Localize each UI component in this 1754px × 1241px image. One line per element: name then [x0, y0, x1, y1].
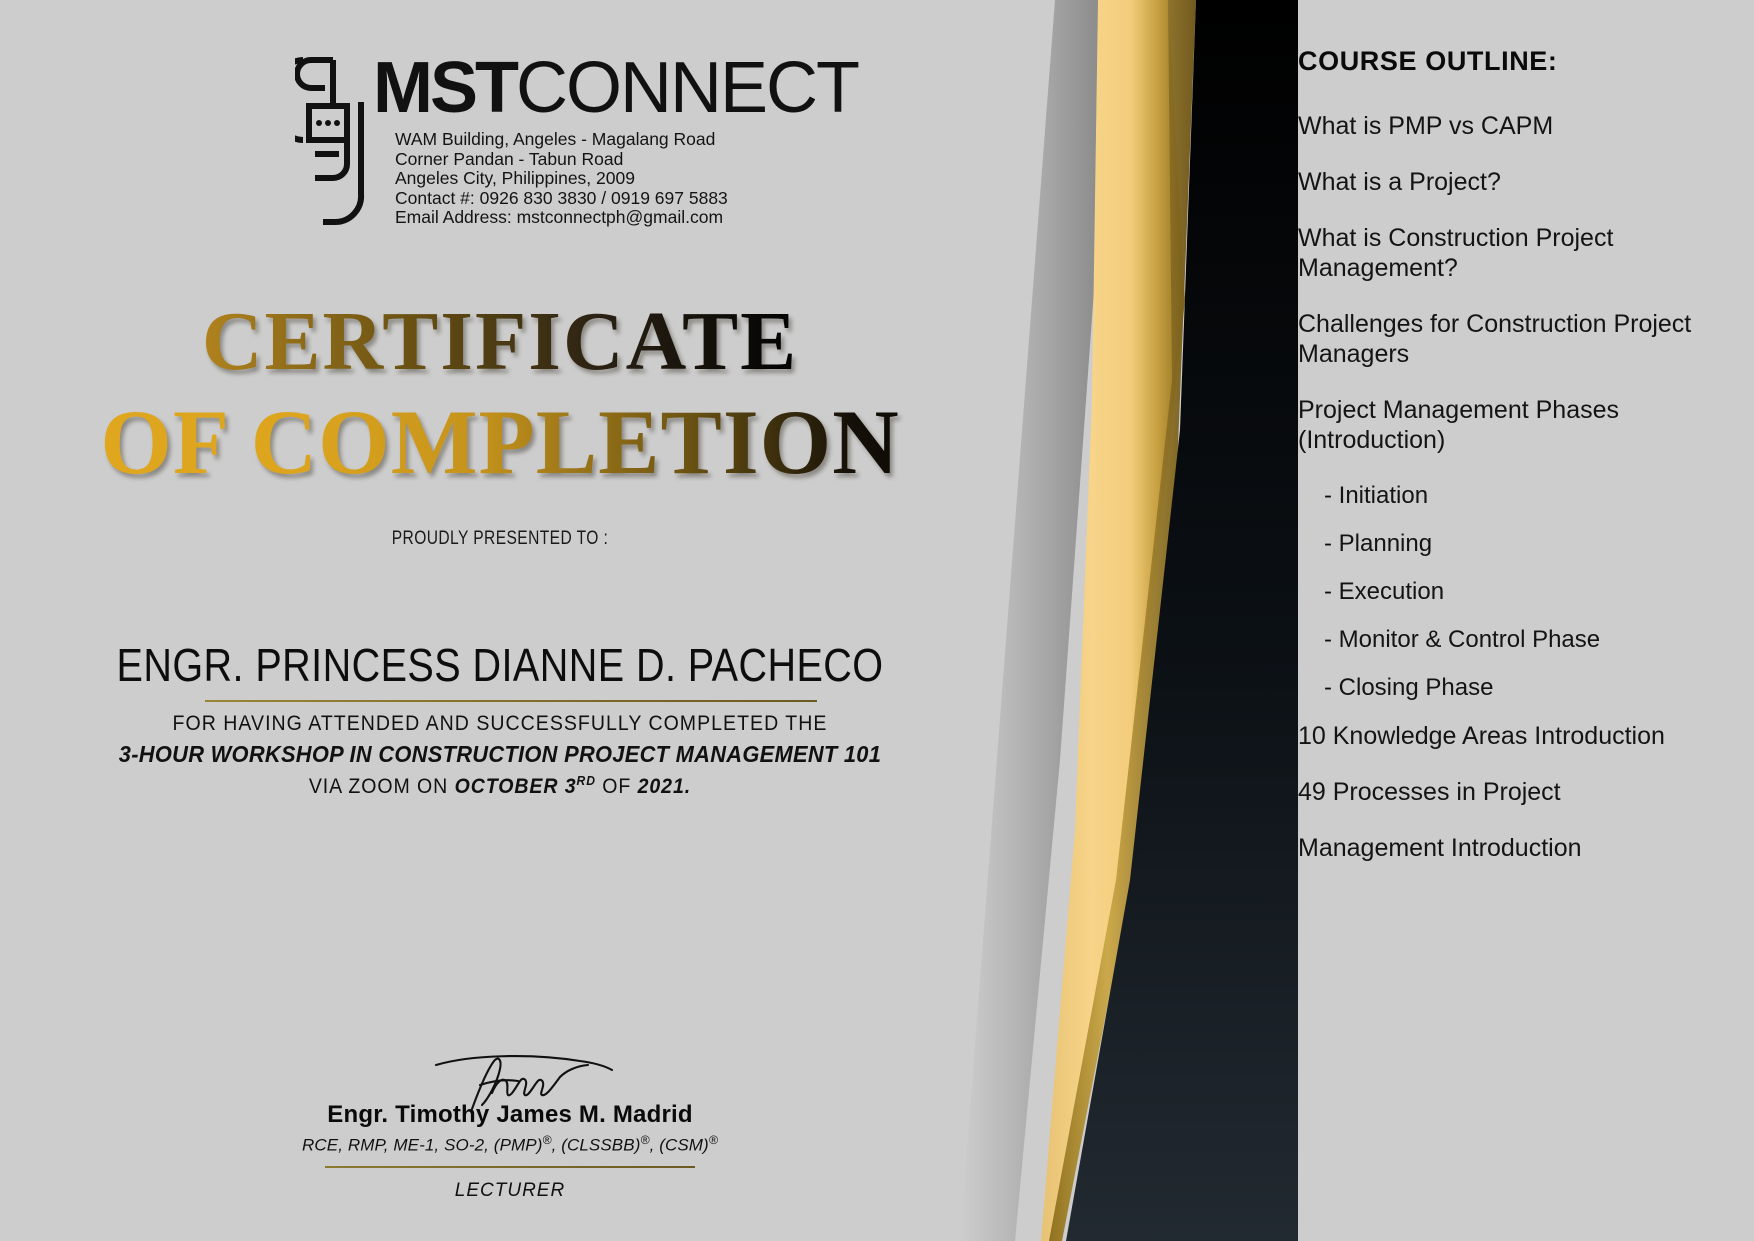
certificate-page: MSTCONNECT WAM Building, Angeles - Magal… [0, 0, 1754, 1241]
registered-mark-3: ® [709, 1133, 718, 1147]
recipient-name-underline [205, 700, 817, 702]
body-line-3-prefix: VIA ZOOM ON [309, 775, 455, 798]
signatory-role: LECTURER [280, 1180, 740, 1202]
credentials-part-3: , (CSM) [650, 1136, 709, 1155]
credentials-part-2: , (CLSSBB) [552, 1136, 641, 1155]
title-line-of-completion: OF COMPLETION [0, 396, 1000, 488]
body-line-3: VIA ZOOM ON OCTOBER 3RD OF 2021. [35, 773, 965, 799]
outline-item: 10 Knowledge Areas Introduction [1298, 721, 1754, 751]
mst-connect-logo-mark [295, 54, 373, 229]
recipient-name: ENGR. PRINCESS DIANNE D. PACHECO [70, 638, 930, 692]
body-line-3-month: OCTOBER 3 [455, 775, 577, 798]
credentials-part-1: RCE, RMP, ME-1, SO-2, (PMP) [302, 1136, 542, 1155]
body-line-2: 3-HOUR WORKSHOP IN CONSTRUCTION PROJECT … [25, 741, 975, 768]
body-line-3-year: 2021. [638, 775, 692, 798]
email-line: Email Address: mstconnectph@gmail.com [395, 208, 728, 228]
outline-item: 49 Processes in Project [1298, 777, 1754, 807]
address-line-3: Angeles City, Philippines, 2009 [395, 169, 728, 189]
outline-item: What is a Project? [1298, 167, 1754, 197]
certificate-main: MSTCONNECT WAM Building, Angeles - Magal… [0, 0, 1040, 1241]
logo-wordmark: MSTCONNECT [373, 46, 858, 130]
body-line-3-middle: OF [596, 775, 638, 798]
signatory-credentials: RCE, RMP, ME-1, SO-2, (PMP)®, (CLSSBB)®,… [280, 1133, 740, 1156]
body-line-3-ordinal: RD [577, 773, 596, 788]
contact-line: Contact #: 0926 830 3830 / 0919 697 5883 [395, 189, 728, 209]
course-outline-list: What is PMP vs CAPMWhat is a Project?Wha… [1298, 111, 1754, 863]
address-line-1: WAM Building, Angeles - Magalang Road [395, 130, 728, 150]
signature-block: Engr. Timothy James M. Madrid RCE, RMP, … [280, 1055, 740, 1202]
course-outline-heading: COURSE OUTLINE: [1298, 46, 1754, 77]
certificate-body: FOR HAVING ATTENDED AND SUCCESSFULLY COM… [0, 712, 1000, 799]
outline-item: What is Construction Project Management? [1298, 223, 1754, 283]
outline-sub-item: - Monitor & Control Phase [1298, 625, 1754, 655]
outline-item: Challenges for Construction Project Mana… [1298, 309, 1754, 369]
course-outline-panel: COURSE OUTLINE: What is PMP vs CAPMWhat … [1298, 0, 1754, 1241]
outline-sub-item: - Closing Phase [1298, 673, 1754, 703]
certificate-title: CERTIFICATE OF COMPLETION [0, 300, 1000, 488]
organization-logo: MSTCONNECT WAM Building, Angeles - Magal… [295, 46, 935, 226]
outline-sub-item: - Planning [1298, 529, 1754, 559]
outline-sub-item: - Initiation [1298, 481, 1754, 511]
outline-item: Project Management Phases (Introduction) [1298, 395, 1754, 455]
presented-to-label: PROUDLY PRESENTED TO : [90, 528, 910, 550]
logo-word-mst: MST [373, 48, 516, 128]
signature-divider [325, 1166, 695, 1168]
registered-mark-2: ® [640, 1133, 649, 1147]
outline-item: Management Introduction [1298, 833, 1754, 863]
outline-sub-item: - Execution [1298, 577, 1754, 607]
body-line-1: FOR HAVING ATTENDED AND SUCCESSFULLY COM… [35, 712, 965, 736]
signatory-name: Engr. Timothy James M. Madrid [280, 1101, 740, 1129]
logo-word-connect: CONNECT [516, 48, 858, 128]
registered-mark-1: ® [542, 1133, 551, 1147]
address-line-2: Corner Pandan - Tabun Road [395, 150, 728, 170]
title-line-certificate: CERTIFICATE [0, 300, 1000, 384]
organization-address: WAM Building, Angeles - Magalang Road Co… [395, 130, 728, 228]
outline-item: What is PMP vs CAPM [1298, 111, 1754, 141]
